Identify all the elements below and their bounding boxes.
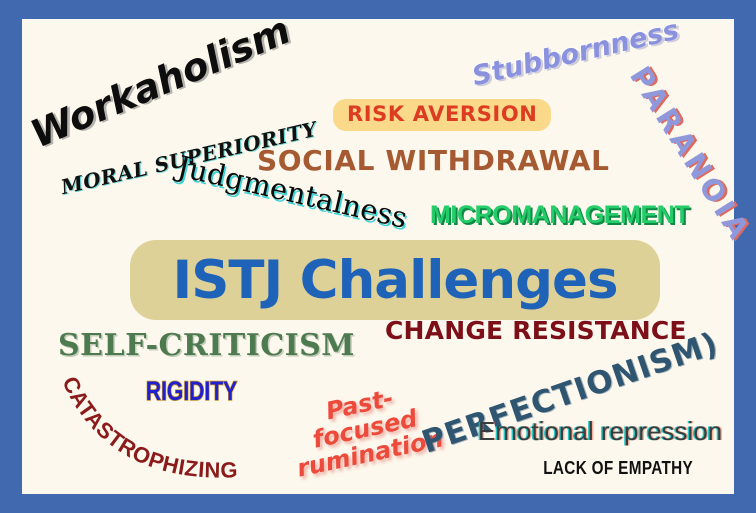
word-catastrophizing: CATASTROPHIZING	[48, 365, 308, 495]
word-cloud-canvas: Workaholism MORAL SUPERIORITY Judgmental…	[0, 0, 756, 513]
word-social-withdrawal: SOCIAL WITHDRAWAL	[257, 147, 610, 175]
word-change-resistance: CHANGE RESISTANCE	[385, 318, 687, 343]
word-self-criticism: SELF-CRITICISM	[58, 331, 355, 361]
word-emotional-repression: Emotional repression	[478, 418, 722, 444]
word-lack-of-empathy: LACK OF EMPATHY	[543, 459, 693, 477]
title-banner-text: ISTJ Challenges	[130, 240, 660, 320]
svg-text:CATASTROPHIZING: CATASTROPHIZING	[57, 372, 238, 482]
word-catastrophizing-text: CATASTROPHIZING	[57, 372, 238, 482]
word-risk-aversion: RISK AVERSION	[333, 99, 551, 131]
word-micromanagement: MICROMANAGEMENT	[430, 203, 689, 228]
